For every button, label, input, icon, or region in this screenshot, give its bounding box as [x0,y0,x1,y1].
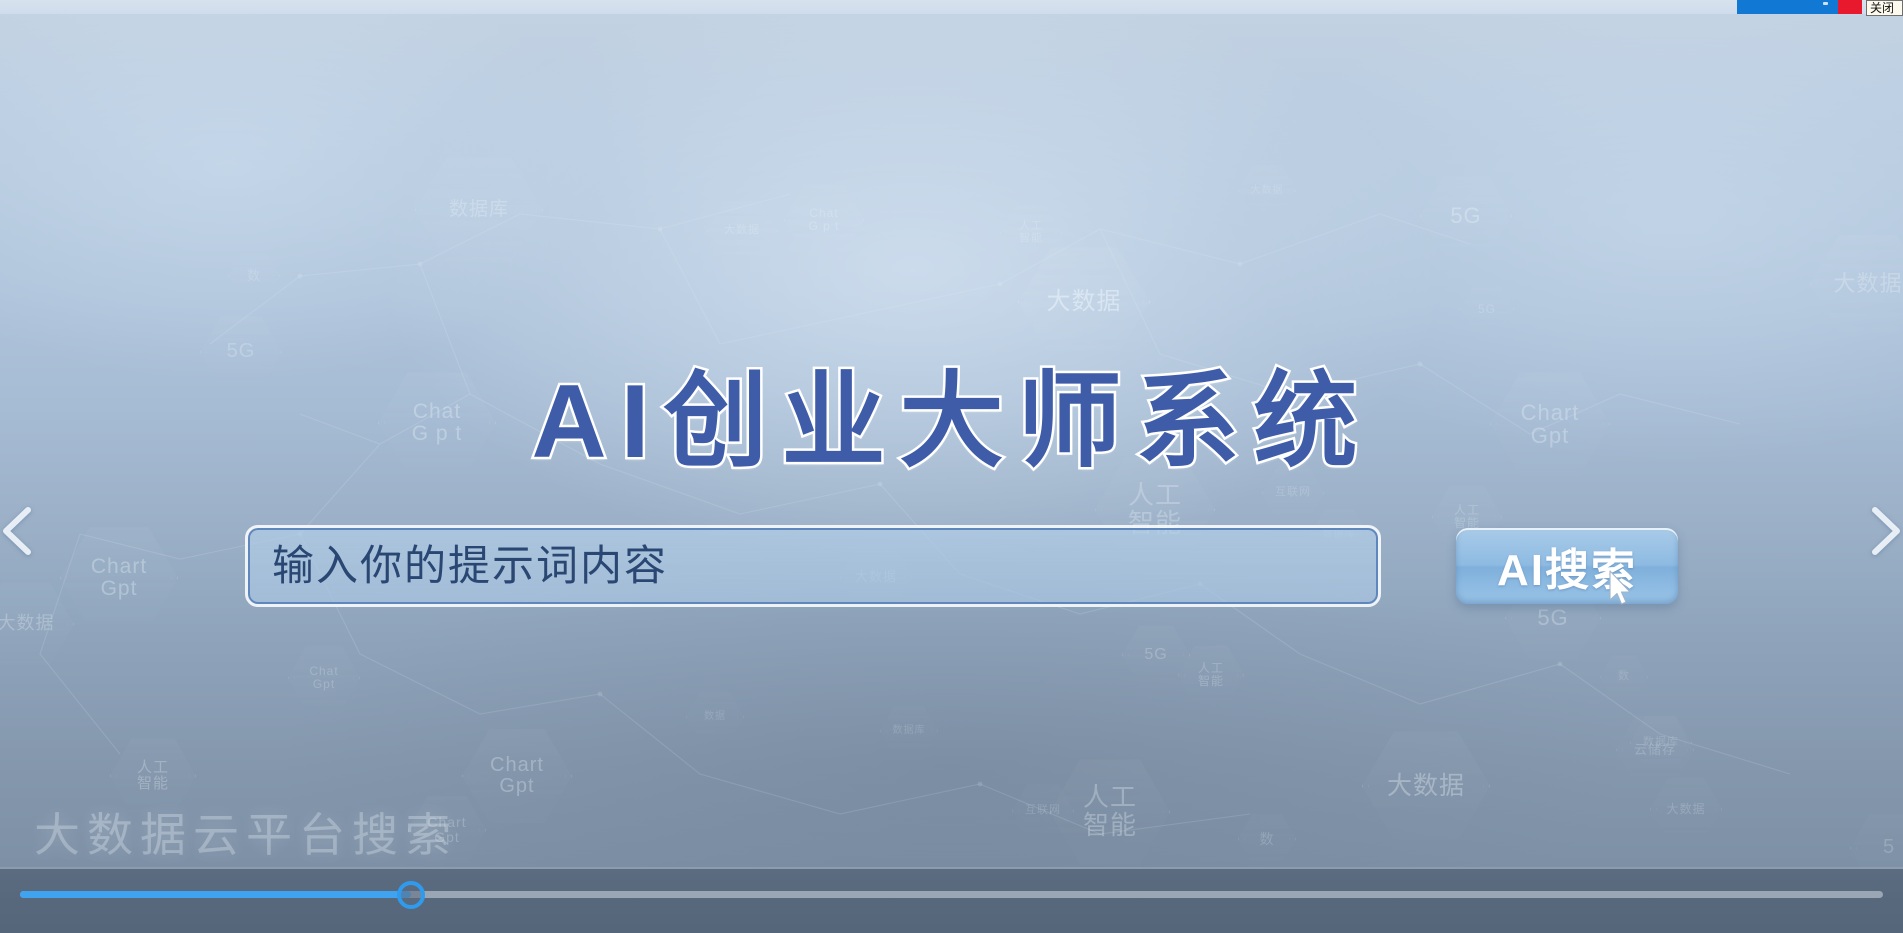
hexagon-label: 5 [1877,837,1901,858]
hexagon-label: 大数据 [1660,803,1711,816]
hexagon-label: 数 [1254,832,1281,847]
hexagon-badge: 云储存 [1616,714,1694,786]
search-bar: AI搜索 [248,522,1678,610]
taskbar-active-window[interactable] [1737,0,1838,14]
hexagon-label: Chat Gpt [303,665,344,690]
hexagon-badge: Chart Gpt [60,524,178,632]
hexagon-label: 数 [1612,671,1636,683]
hexagon-outline [288,644,360,712]
hexagon-outline [408,794,486,866]
hexagon-badge: 人工 智能 [1178,644,1244,706]
hexagon-badge: 5G [1460,284,1514,334]
hexagon-label: Chart Gpt [421,815,472,845]
hexagon-outline [462,726,572,826]
hexagon-badge: 互联网 [1012,782,1074,840]
hexagon-label: 5G [1138,647,1173,664]
hexagon-label: 互联网 [1269,487,1317,499]
hexagon-badge: Chart Gpt [462,726,572,826]
hexagon-badge: 大数据 [1810,232,1903,336]
hexagon-outline [110,736,196,816]
hexagon-label: 数据库 [443,200,515,220]
hexagon-outline [1810,232,1903,336]
hexagon-outline [1850,812,1903,867]
hexagon-badge: 数 [1600,654,1648,700]
hexagon-label: 大数据 [1381,773,1471,800]
player-bottom-bar [0,867,1903,933]
close-tooltip: 关闭 [1866,0,1903,16]
hexagon-label: 大数据 [1827,272,1903,295]
hexagon-label: 数据库 [1637,737,1685,749]
hexagon-badge: 5 [1850,812,1903,867]
hexagon-badge: 大数据 [1238,164,1296,218]
hexagon-label: Chart Gpt [85,556,153,601]
hexagon-label: 5G [1472,303,1502,316]
hexagon-badge: Chart Gpt [408,794,486,866]
window-close-button[interactable] [1838,0,1862,14]
hexagon-outline [1650,776,1722,842]
desktop-top-strip: 关闭 [0,0,1903,14]
hexagon-label: 云储存 [1628,743,1682,757]
ai-search-button[interactable]: AI搜索 [1456,528,1678,604]
hexagon-outline [1238,164,1296,218]
hexagon-badge: 人工 智能 [1050,756,1170,867]
hexagon-badge: 数 [228,252,280,300]
hexagon-label: Chat G p t [802,207,845,232]
hexagon-label: 大数据 [0,614,61,633]
hexagon-outline [706,199,778,263]
hexagon-outline [1178,644,1244,706]
hexagon-outline [1420,174,1512,258]
hexagon-outline [60,524,178,632]
hexagon-label: 大数据 [1245,186,1290,197]
hexagon-badge: Chat G p t [784,182,864,258]
hexagon-label: 人工 智能 [1013,221,1049,244]
hexagon-badge: 5G [1122,624,1190,686]
hexagon-outline [415,154,543,266]
chevron-left-icon [0,500,42,562]
hexagon-outline [1000,204,1062,262]
hexagon-label: 人工 智能 [131,760,175,792]
hexagon-outline [1616,714,1694,786]
hexagon-outline [228,252,280,300]
hexagon-outline [880,704,938,758]
hexagon-badge: 数据库 [415,154,543,266]
hexagon-outline [1122,624,1190,686]
hexagon-badge: 大数据 [1362,728,1490,844]
carousel-prev-button[interactable] [0,500,42,562]
hexagon-label: 大数据 [1041,289,1128,314]
hexagon-badge: 5G [1420,174,1512,258]
hexagon-label: 人工 智能 [1077,784,1143,839]
hexagon-outline [1460,284,1514,334]
prompt-search-input[interactable] [248,528,1378,604]
hexagon-outline [1362,728,1490,844]
background-watermark-text: 大数据云平台搜索 [34,799,458,865]
hexagon-label: 互联网 [1019,805,1067,817]
hexagon-outline [1012,782,1074,840]
hexagon-badge: 人工 智能 [110,736,196,816]
hexagon-label: 5G [1444,204,1487,227]
hexagon-badge: 数据库 [880,704,938,758]
hexagon-badge: 人工 智能 [1000,204,1062,262]
hexagon-outline [1050,756,1170,867]
hexagon-outline [1600,654,1648,700]
hero-stage: 数据库大数据Chat G p t5G大数据大数据人工 智能5G5G数Chat G… [0,14,1903,867]
progress-handle[interactable] [397,881,425,909]
hexagon-outline [1238,812,1296,866]
chevron-right-icon [1861,500,1903,562]
hexagon-label: 数据 [698,712,732,723]
hexagon-label: 大数据 [718,225,766,237]
hexagon-badge: 大数据 [0,580,74,668]
hexagon-label: 数据库 [887,726,932,737]
hexagon-badge: 大数据 [706,199,778,263]
hexagon-badge: 数据 [686,690,744,744]
hexagon-outline [0,580,74,668]
carousel-next-button[interactable] [1861,500,1903,562]
progress-fill [20,891,411,898]
ai-search-button-label: AI搜索 [1497,534,1637,598]
hexagon-label: 人工 智能 [1192,662,1230,687]
hexagon-label: 数 [241,269,267,283]
progress-slider[interactable] [20,891,1883,898]
hexagon-outline [1630,714,1692,772]
hexagon-badge: 数据库 [1630,714,1692,772]
hexagon-outline [784,182,864,258]
hexagon-badge: 大数据 [1650,776,1722,842]
hexagon-badge: 数 [1238,812,1296,866]
taskbar-indicator-dot [1823,2,1828,5]
page-title: AI创业大师系统 [0,336,1903,487]
hexagon-badge: Chat Gpt [288,644,360,712]
hexagon-outline [686,690,744,744]
hexagon-label: Chart Gpt [484,755,550,797]
